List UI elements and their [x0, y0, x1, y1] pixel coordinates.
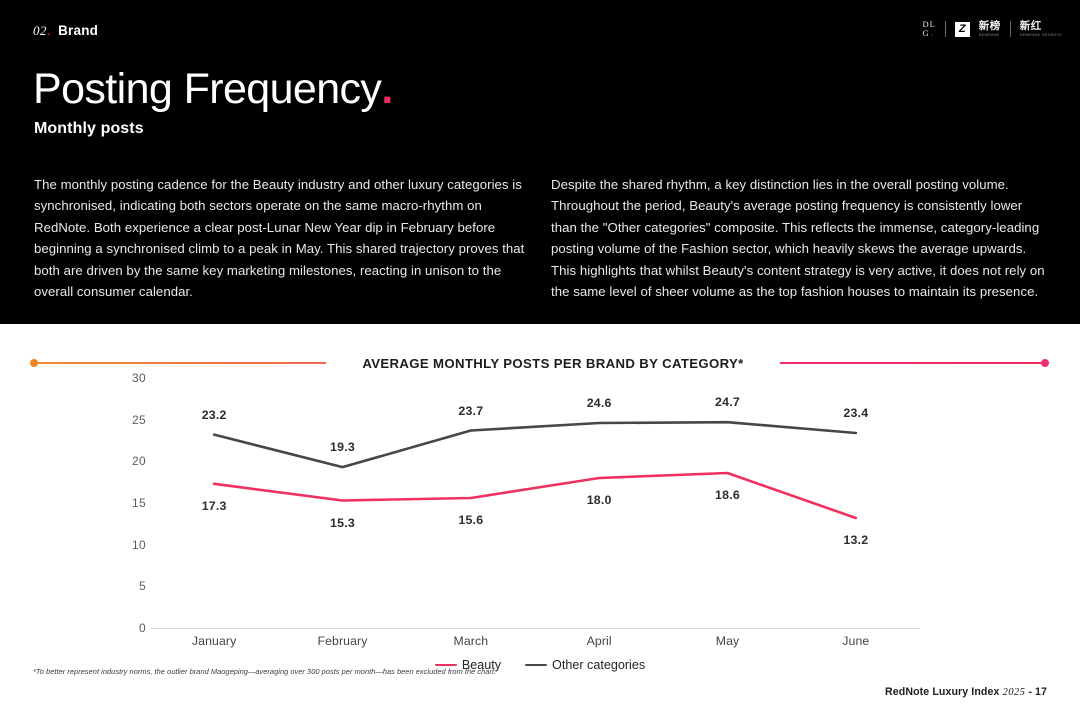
body-paragraph-right: Despite the shared rhythm, a key distinc… — [551, 174, 1048, 302]
section-label: Brand — [58, 23, 98, 38]
x-axis-baseline — [150, 628, 920, 629]
chart-series-lines — [0, 378, 1080, 628]
chart-title: AVERAGE MONTHLY POSTS PER BRAND BY CATEG… — [326, 356, 780, 371]
legend-item-other-categories[interactable]: Other categories — [525, 658, 645, 672]
data-label-other-categories-may: 24.7 — [715, 395, 740, 409]
series-line-beauty — [214, 473, 856, 518]
logo-divider-2 — [1010, 21, 1011, 37]
chart-footnote: *To better represent industry norms, the… — [33, 667, 496, 676]
section-number: 02 — [33, 23, 47, 39]
chart-plot-area: 302520151050 17.315.315.618.018.613.223.… — [0, 378, 1080, 628]
page-title-dot: . — [381, 65, 392, 113]
dlg-logo: DL G . — [922, 21, 935, 38]
page-subtitle: Monthly posts — [34, 120, 144, 138]
newrank-logo: 新榜 NEWRANK — [979, 21, 1001, 37]
data-label-other-categories-april: 24.6 — [587, 396, 612, 410]
x-axis-tick-february: February — [317, 634, 367, 648]
data-label-beauty-june: 13.2 — [843, 533, 868, 547]
rule-right-endcap-icon — [1041, 359, 1049, 367]
dlg-logo-line2: G — [922, 30, 929, 38]
dlg-logo-dot: . — [931, 29, 934, 37]
footer-page-number: 17 — [1035, 686, 1047, 698]
newrank-rednote-logo-cn: 新红 — [1020, 21, 1042, 32]
x-axis-tick-april: April — [587, 634, 612, 648]
x-axis-tick-june: June — [842, 634, 869, 648]
rule-left-endcap-icon — [30, 359, 38, 367]
newrank-rednote-logo: 新红 NEWRANK REDNOTE — [1020, 21, 1062, 37]
rule-right-decoration — [780, 362, 1046, 364]
data-label-other-categories-march: 23.7 — [458, 404, 483, 418]
page-title-text: Posting Frequency — [33, 65, 381, 113]
logo-divider-1 — [945, 21, 946, 37]
footer-year: 2025 — [1003, 687, 1026, 698]
legend-swatch-icon — [525, 664, 547, 667]
legend-label: Other categories — [552, 658, 645, 672]
data-label-beauty-may: 18.6 — [715, 488, 740, 502]
data-label-beauty-january: 17.3 — [202, 499, 227, 513]
data-label-beauty-april: 18.0 — [587, 493, 612, 507]
breadcrumb: 02 . Brand — [33, 22, 98, 39]
body-paragraph-left: The monthly posting cadence for the Beau… — [34, 174, 529, 302]
footer-report-name: RedNote Luxury Index — [885, 686, 999, 698]
newrank-mark-icon: Z — [955, 22, 970, 37]
logo-group: DL G . Z 新榜 NEWRANK 新红 NEWRANK REDNOTE — [922, 21, 1062, 38]
slide: 02 . Brand DL G . Z 新榜 NEWRANK 新红 NEWRAN… — [0, 0, 1080, 720]
footer-separator: - — [1025, 686, 1035, 698]
newrank-logo-en: NEWRANK — [979, 34, 1000, 38]
footer-meta: RedNote Luxury Index 2025 - 17 — [885, 686, 1047, 698]
page-title: Posting Frequency. — [33, 68, 393, 111]
newrank-logo-cn: 新榜 — [979, 21, 1001, 32]
section-number-dot: . — [47, 22, 51, 38]
newrank-rednote-logo-en: NEWRANK REDNOTE — [1020, 34, 1062, 38]
data-label-other-categories-january: 23.2 — [202, 408, 227, 422]
x-axis-labels: JanuaryFebruaryMarchAprilMayJune — [0, 634, 1080, 654]
data-label-other-categories-february: 19.3 — [330, 440, 355, 454]
data-label-beauty-march: 15.6 — [458, 513, 483, 527]
x-axis-tick-march: March — [453, 634, 488, 648]
x-axis-tick-may: May — [716, 634, 740, 648]
dark-header-block: 02 . Brand DL G . Z 新榜 NEWRANK 新红 NEWRAN… — [0, 0, 1080, 324]
chart-section: AVERAGE MONTHLY POSTS PER BRAND BY CATEG… — [0, 324, 1080, 720]
x-axis-tick-january: January — [192, 634, 236, 648]
data-label-other-categories-june: 23.4 — [843, 406, 868, 420]
series-line-other-categories — [214, 422, 856, 467]
data-label-beauty-february: 15.3 — [330, 516, 355, 530]
legend-swatch-icon — [435, 664, 457, 667]
rule-left-decoration — [33, 362, 326, 364]
chart-header: AVERAGE MONTHLY POSTS PER BRAND BY CATEG… — [0, 355, 1080, 371]
